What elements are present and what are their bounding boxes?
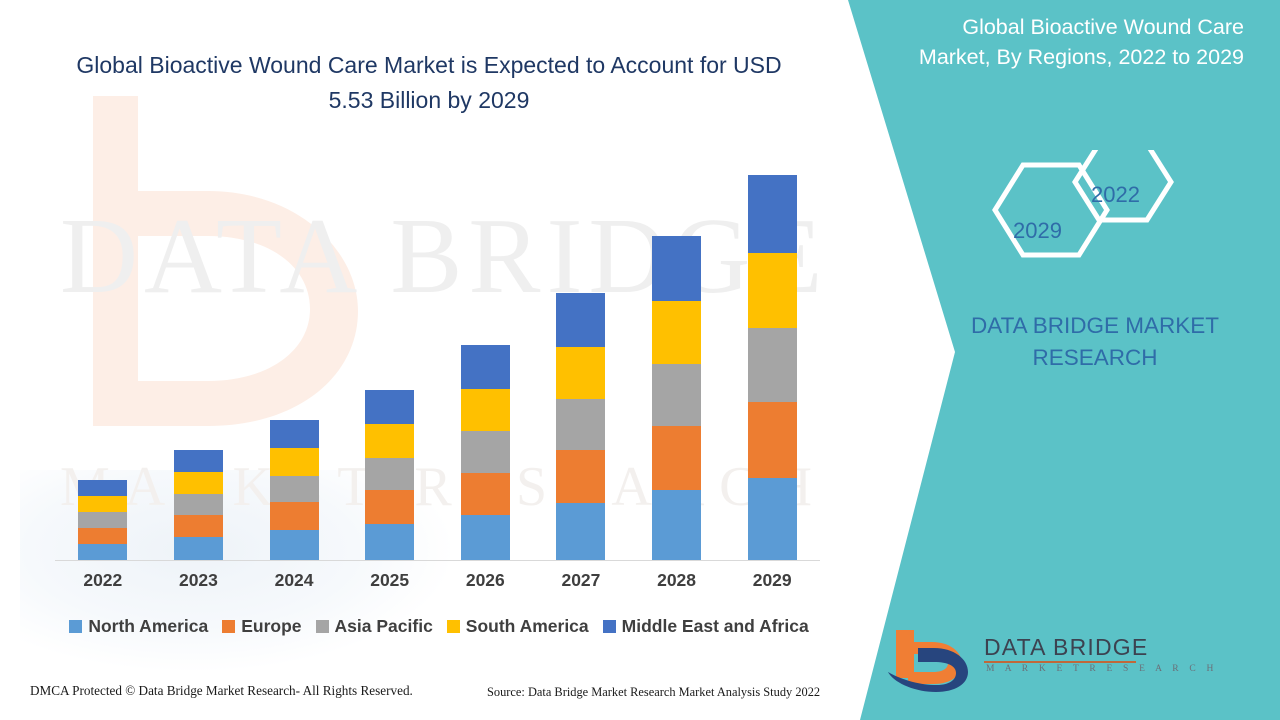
bar-segment-asia-pacific (270, 476, 319, 502)
logo-main-text: DATA BRIDGE (984, 634, 1148, 661)
x-axis-label-2029: 2029 (725, 570, 820, 591)
bar-segment-middle-east-and-africa (174, 450, 223, 472)
legend-item-north-america[interactable]: North America (69, 616, 208, 637)
bar-segment-south-america (78, 496, 127, 512)
bar-segment-asia-pacific (652, 364, 701, 426)
legend-item-south-america[interactable]: South America (447, 616, 589, 637)
bar-column-2025 (342, 170, 437, 560)
bar-segment-north-america (270, 530, 319, 560)
bar-column-2027 (533, 170, 628, 560)
panel-title: Global Bioactive Wound Care Market, By R… (904, 12, 1244, 72)
footer-copyright: DMCA Protected © Data Bridge Market Rese… (30, 683, 413, 699)
x-axis-label-2026: 2026 (438, 570, 533, 591)
x-axis-label-2024: 2024 (247, 570, 342, 591)
bar-segment-europe (365, 490, 414, 524)
bar-segment-middle-east-and-africa (652, 236, 701, 301)
x-axis-label-2027: 2027 (533, 570, 628, 591)
stacked-bar (174, 450, 223, 560)
bar-series-group (55, 170, 820, 560)
bar-segment-middle-east-and-africa (78, 480, 127, 496)
bar-segment-europe (748, 402, 797, 478)
bar-segment-north-america (556, 503, 605, 560)
bar-segment-north-america (461, 515, 510, 560)
x-axis-labels: 20222023202420252026202720282029 (55, 570, 820, 591)
bar-segment-south-america (174, 472, 223, 494)
bar-segment-middle-east-and-africa (748, 175, 797, 253)
bar-segment-europe (556, 450, 605, 503)
bar-segment-asia-pacific (748, 328, 797, 402)
x-axis-label-2022: 2022 (55, 570, 150, 591)
data-bridge-logo-icon (888, 628, 980, 692)
bar-column-2024 (247, 170, 342, 560)
bar-segment-north-america (174, 537, 223, 560)
bar-segment-europe (78, 528, 127, 544)
legend-swatch-icon (603, 620, 616, 633)
legend-swatch-icon (69, 620, 82, 633)
bar-segment-europe (461, 473, 510, 515)
bar-column-2029 (725, 170, 820, 560)
legend-item-europe[interactable]: Europe (222, 616, 301, 637)
bar-segment-middle-east-and-africa (365, 390, 414, 424)
stacked-bar (652, 236, 701, 560)
bar-segment-middle-east-and-africa (461, 345, 510, 389)
bar-segment-europe (270, 502, 319, 530)
legend-swatch-icon (447, 620, 460, 633)
bar-column-2026 (438, 170, 533, 560)
bar-segment-asia-pacific (461, 431, 510, 473)
legend-label: Asia Pacific (335, 616, 433, 637)
bar-segment-north-america (748, 478, 797, 560)
stacked-bar (365, 390, 414, 560)
bar-segment-north-america (652, 490, 701, 560)
x-axis-label-2023: 2023 (151, 570, 246, 591)
legend-label: South America (466, 616, 589, 637)
x-axis-label-2028: 2028 (629, 570, 724, 591)
stacked-bar (461, 345, 510, 560)
bar-column-2023 (151, 170, 246, 560)
bar-segment-asia-pacific (365, 458, 414, 490)
bar-segment-south-america (461, 389, 510, 431)
bar-segment-middle-east-and-africa (270, 420, 319, 448)
brand-name: DATA BRIDGE MARKET RESEARCH (930, 310, 1260, 374)
bar-column-2028 (629, 170, 724, 560)
legend-swatch-icon (316, 620, 329, 633)
bar-segment-south-america (748, 253, 797, 328)
bar-column-2022 (55, 170, 150, 560)
footer-source: Source: Data Bridge Market Research Mark… (487, 685, 820, 700)
bar-segment-asia-pacific (556, 399, 605, 450)
bar-segment-north-america (78, 544, 127, 560)
x-axis-label-2025: 2025 (342, 570, 437, 591)
brand-logo: DATA BRIDGE M A R K E T R E S E A R C H (888, 628, 1248, 694)
chart-region: 20222023202420252026202720282029 North A… (0, 0, 860, 720)
bar-segment-europe (174, 515, 223, 537)
stacked-bar (78, 480, 127, 560)
stacked-bar (556, 293, 605, 560)
bar-segment-south-america (270, 448, 319, 476)
x-axis-line (55, 560, 820, 561)
bar-segment-asia-pacific (174, 494, 223, 515)
bar-segment-middle-east-and-africa (556, 293, 605, 347)
bar-segment-europe (652, 426, 701, 490)
legend-label: North America (88, 616, 208, 637)
legend-swatch-icon (222, 620, 235, 633)
bar-segment-south-america (365, 424, 414, 458)
hex-badge-group: 2022 2029 (975, 150, 1195, 280)
logo-divider (984, 661, 1136, 663)
logo-sub-text: M A R K E T R E S E A R C H (986, 664, 1218, 674)
hex-badge-2029-label: 2029 (1013, 218, 1062, 244)
stacked-bar (748, 175, 797, 560)
bar-segment-north-america (365, 524, 414, 560)
infographic-canvas: DATA BRIDGE MARKET RESEARCH Global Bioac… (0, 0, 1280, 720)
hexagon-outline-icon (975, 150, 1195, 280)
chart-legend: North AmericaEuropeAsia PacificSouth Ame… (55, 616, 823, 637)
legend-label: Middle East and Africa (622, 616, 809, 637)
bar-segment-south-america (556, 347, 605, 399)
legend-item-middle-east-and-africa[interactable]: Middle East and Africa (603, 616, 809, 637)
stacked-bar (270, 420, 319, 560)
legend-label: Europe (241, 616, 301, 637)
bar-segment-asia-pacific (78, 512, 127, 528)
bar-segment-south-america (652, 301, 701, 364)
legend-item-asia-pacific[interactable]: Asia Pacific (316, 616, 433, 637)
hex-badge-2022-label: 2022 (1091, 182, 1140, 208)
